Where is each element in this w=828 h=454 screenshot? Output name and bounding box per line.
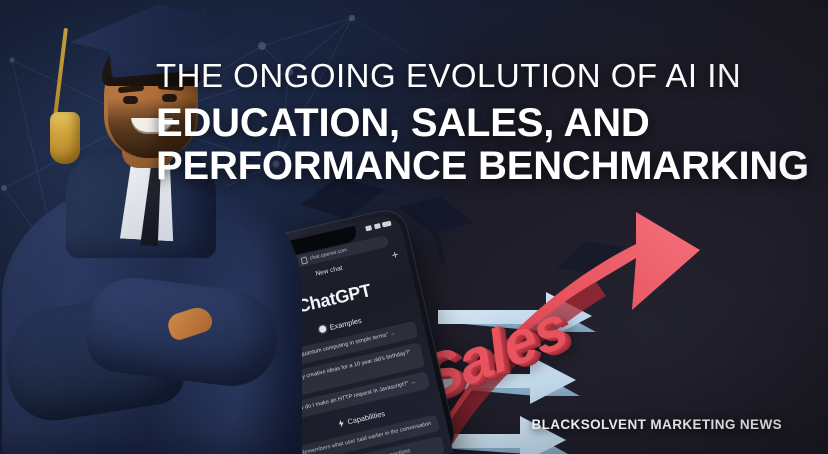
- battery-icon: [382, 221, 392, 228]
- tassel-knot: [50, 112, 80, 164]
- status-icons: [365, 221, 391, 232]
- signal-icon: [365, 225, 372, 231]
- marketing-banner: Sales 19:17 chat.openai.com: [0, 0, 828, 454]
- headline-line-3: PERFORMANCE BENCHMARKING: [156, 145, 804, 187]
- wifi-icon: [373, 223, 380, 229]
- plus-icon[interactable]: +: [391, 250, 400, 262]
- headline-block: THE ONGOING EVOLUTION OF AI IN EDUCATION…: [156, 58, 804, 187]
- tassel-cord: [52, 28, 68, 124]
- eye-left: [123, 96, 138, 104]
- examples-title: Examples: [329, 316, 363, 332]
- bolt-icon: [338, 419, 345, 428]
- headline-line-1: THE ONGOING EVOLUTION OF AI IN: [156, 58, 804, 94]
- brand-watermark: BLACKSOLVENT MARKETING NEWS: [531, 417, 782, 432]
- capabilities-title: Capabilities: [347, 409, 386, 426]
- headline-line-2: EDUCATION, SALES, AND: [156, 102, 804, 144]
